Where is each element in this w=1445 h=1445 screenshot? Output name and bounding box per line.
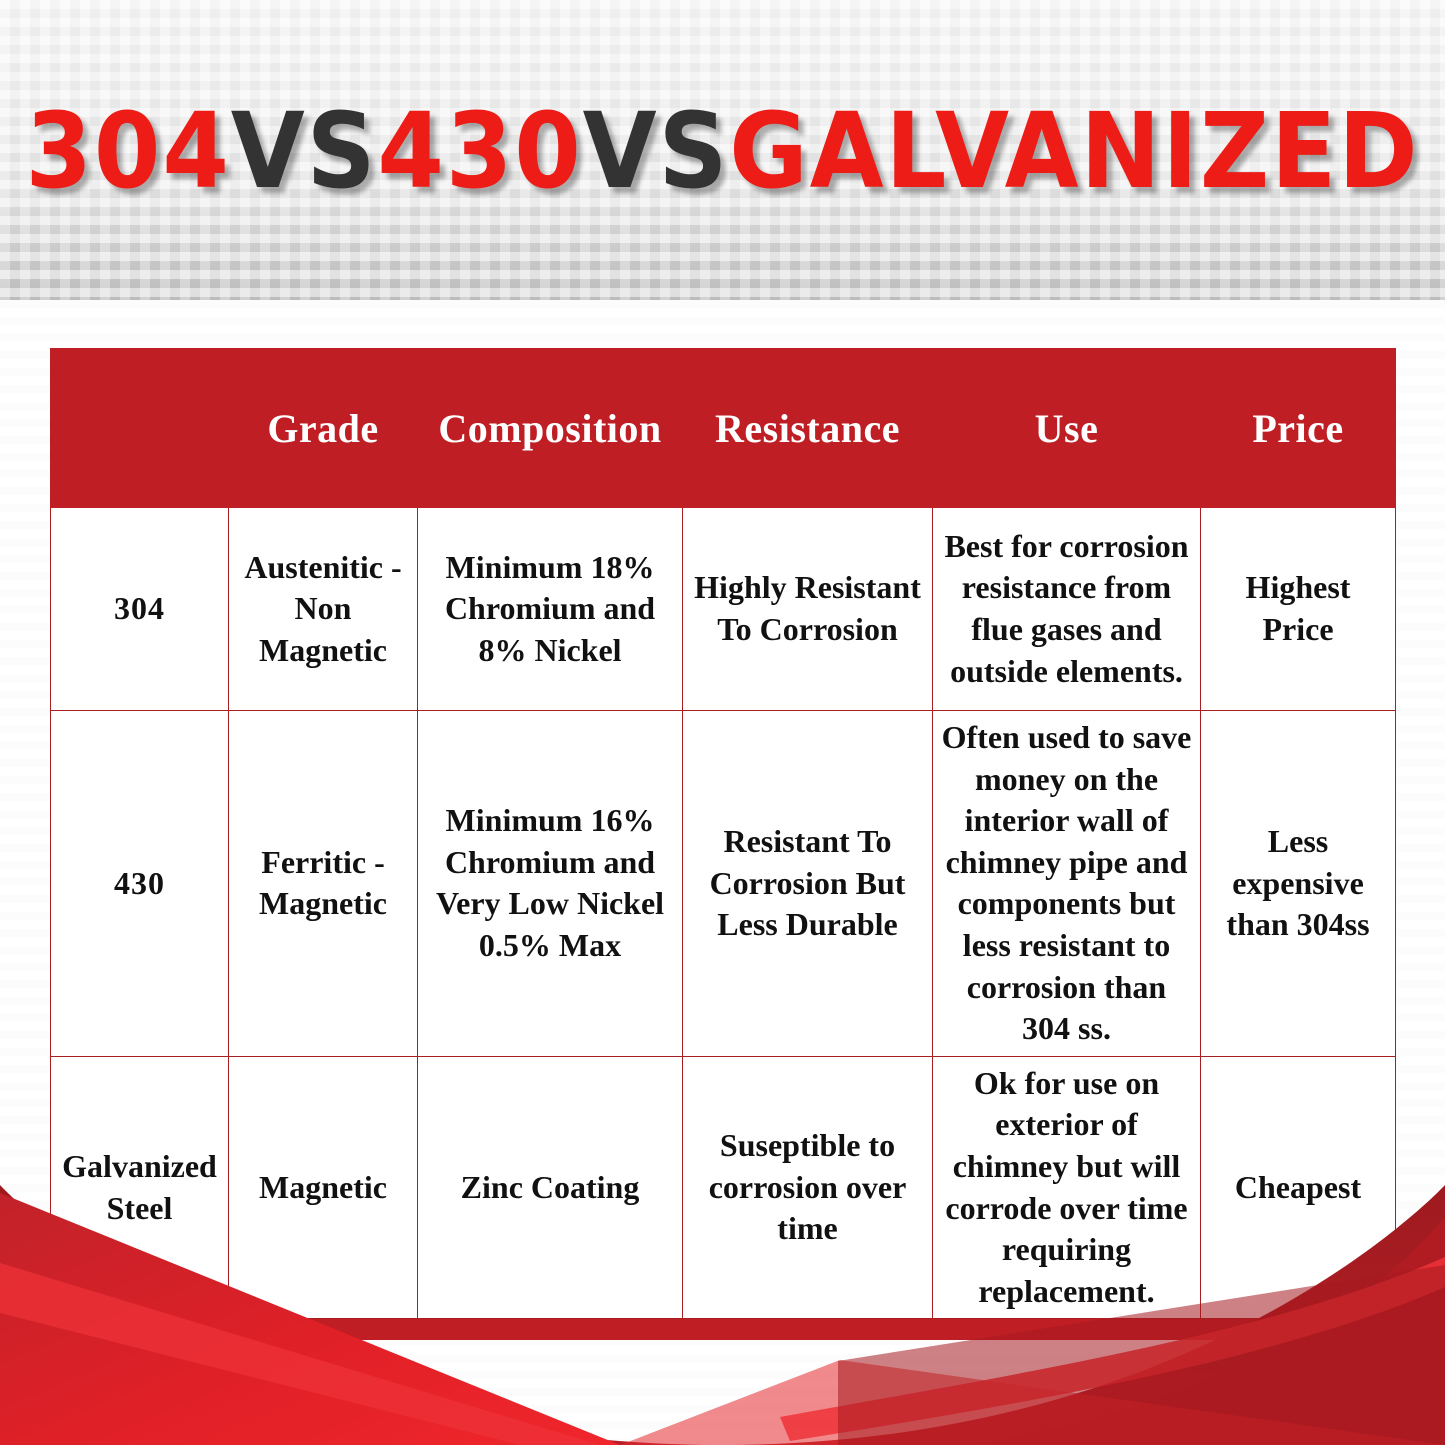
cell-grade-430: Ferritic - Magnetic	[229, 711, 418, 1057]
header-cell-resistance: Resistance	[683, 349, 933, 508]
cell-resistance-304: Highly Resistant To Corrosion	[683, 508, 933, 711]
title-part-304: 304	[26, 99, 231, 203]
header-cell-use: Use	[933, 349, 1201, 508]
header-cell-material	[51, 349, 229, 508]
bottom-decoration	[0, 1145, 1445, 1445]
bottom-decoration-shapes	[0, 1145, 1445, 1445]
table-row: 430 Ferritic - Magnetic Minimum 16% Chro…	[51, 711, 1396, 1057]
title-part-vs-1: VS	[231, 99, 378, 203]
title-part-galvanized: GALVANIZED	[729, 99, 1419, 203]
title-part-vs-2: VS	[583, 99, 730, 203]
cell-material-430: 430	[51, 711, 229, 1057]
table-header-row: Grade Composition Resistance Use Price	[51, 349, 1396, 508]
cell-price-430: Less expensive than 304ss	[1201, 711, 1396, 1057]
table-header: Grade Composition Resistance Use Price	[51, 349, 1396, 508]
page-title: 304VS430VSGALVANIZED	[58, 96, 1387, 206]
cell-resistance-430: Resistant To Corrosion But Less Durable	[683, 711, 933, 1057]
cell-material-304: 304	[51, 508, 229, 711]
header-cell-composition: Composition	[418, 349, 683, 508]
cell-composition-430: Minimum 16% Chromium and Very Low Nickel…	[418, 711, 683, 1057]
header-cell-price: Price	[1201, 349, 1396, 508]
cell-grade-304: Austenitic - Non Magnetic	[229, 508, 418, 711]
cell-price-304: Highest Price	[1201, 508, 1396, 711]
cell-use-430: Often used to save money on the interior…	[933, 711, 1201, 1057]
cell-composition-304: Minimum 18% Chromium and 8% Nickel	[418, 508, 683, 711]
table-row: 304 Austenitic - Non Magnetic Minimum 18…	[51, 508, 1396, 711]
cell-use-304: Best for corrosion resistance from flue …	[933, 508, 1201, 711]
header-cell-grade: Grade	[229, 349, 418, 508]
title-part-430: 430	[377, 99, 582, 203]
